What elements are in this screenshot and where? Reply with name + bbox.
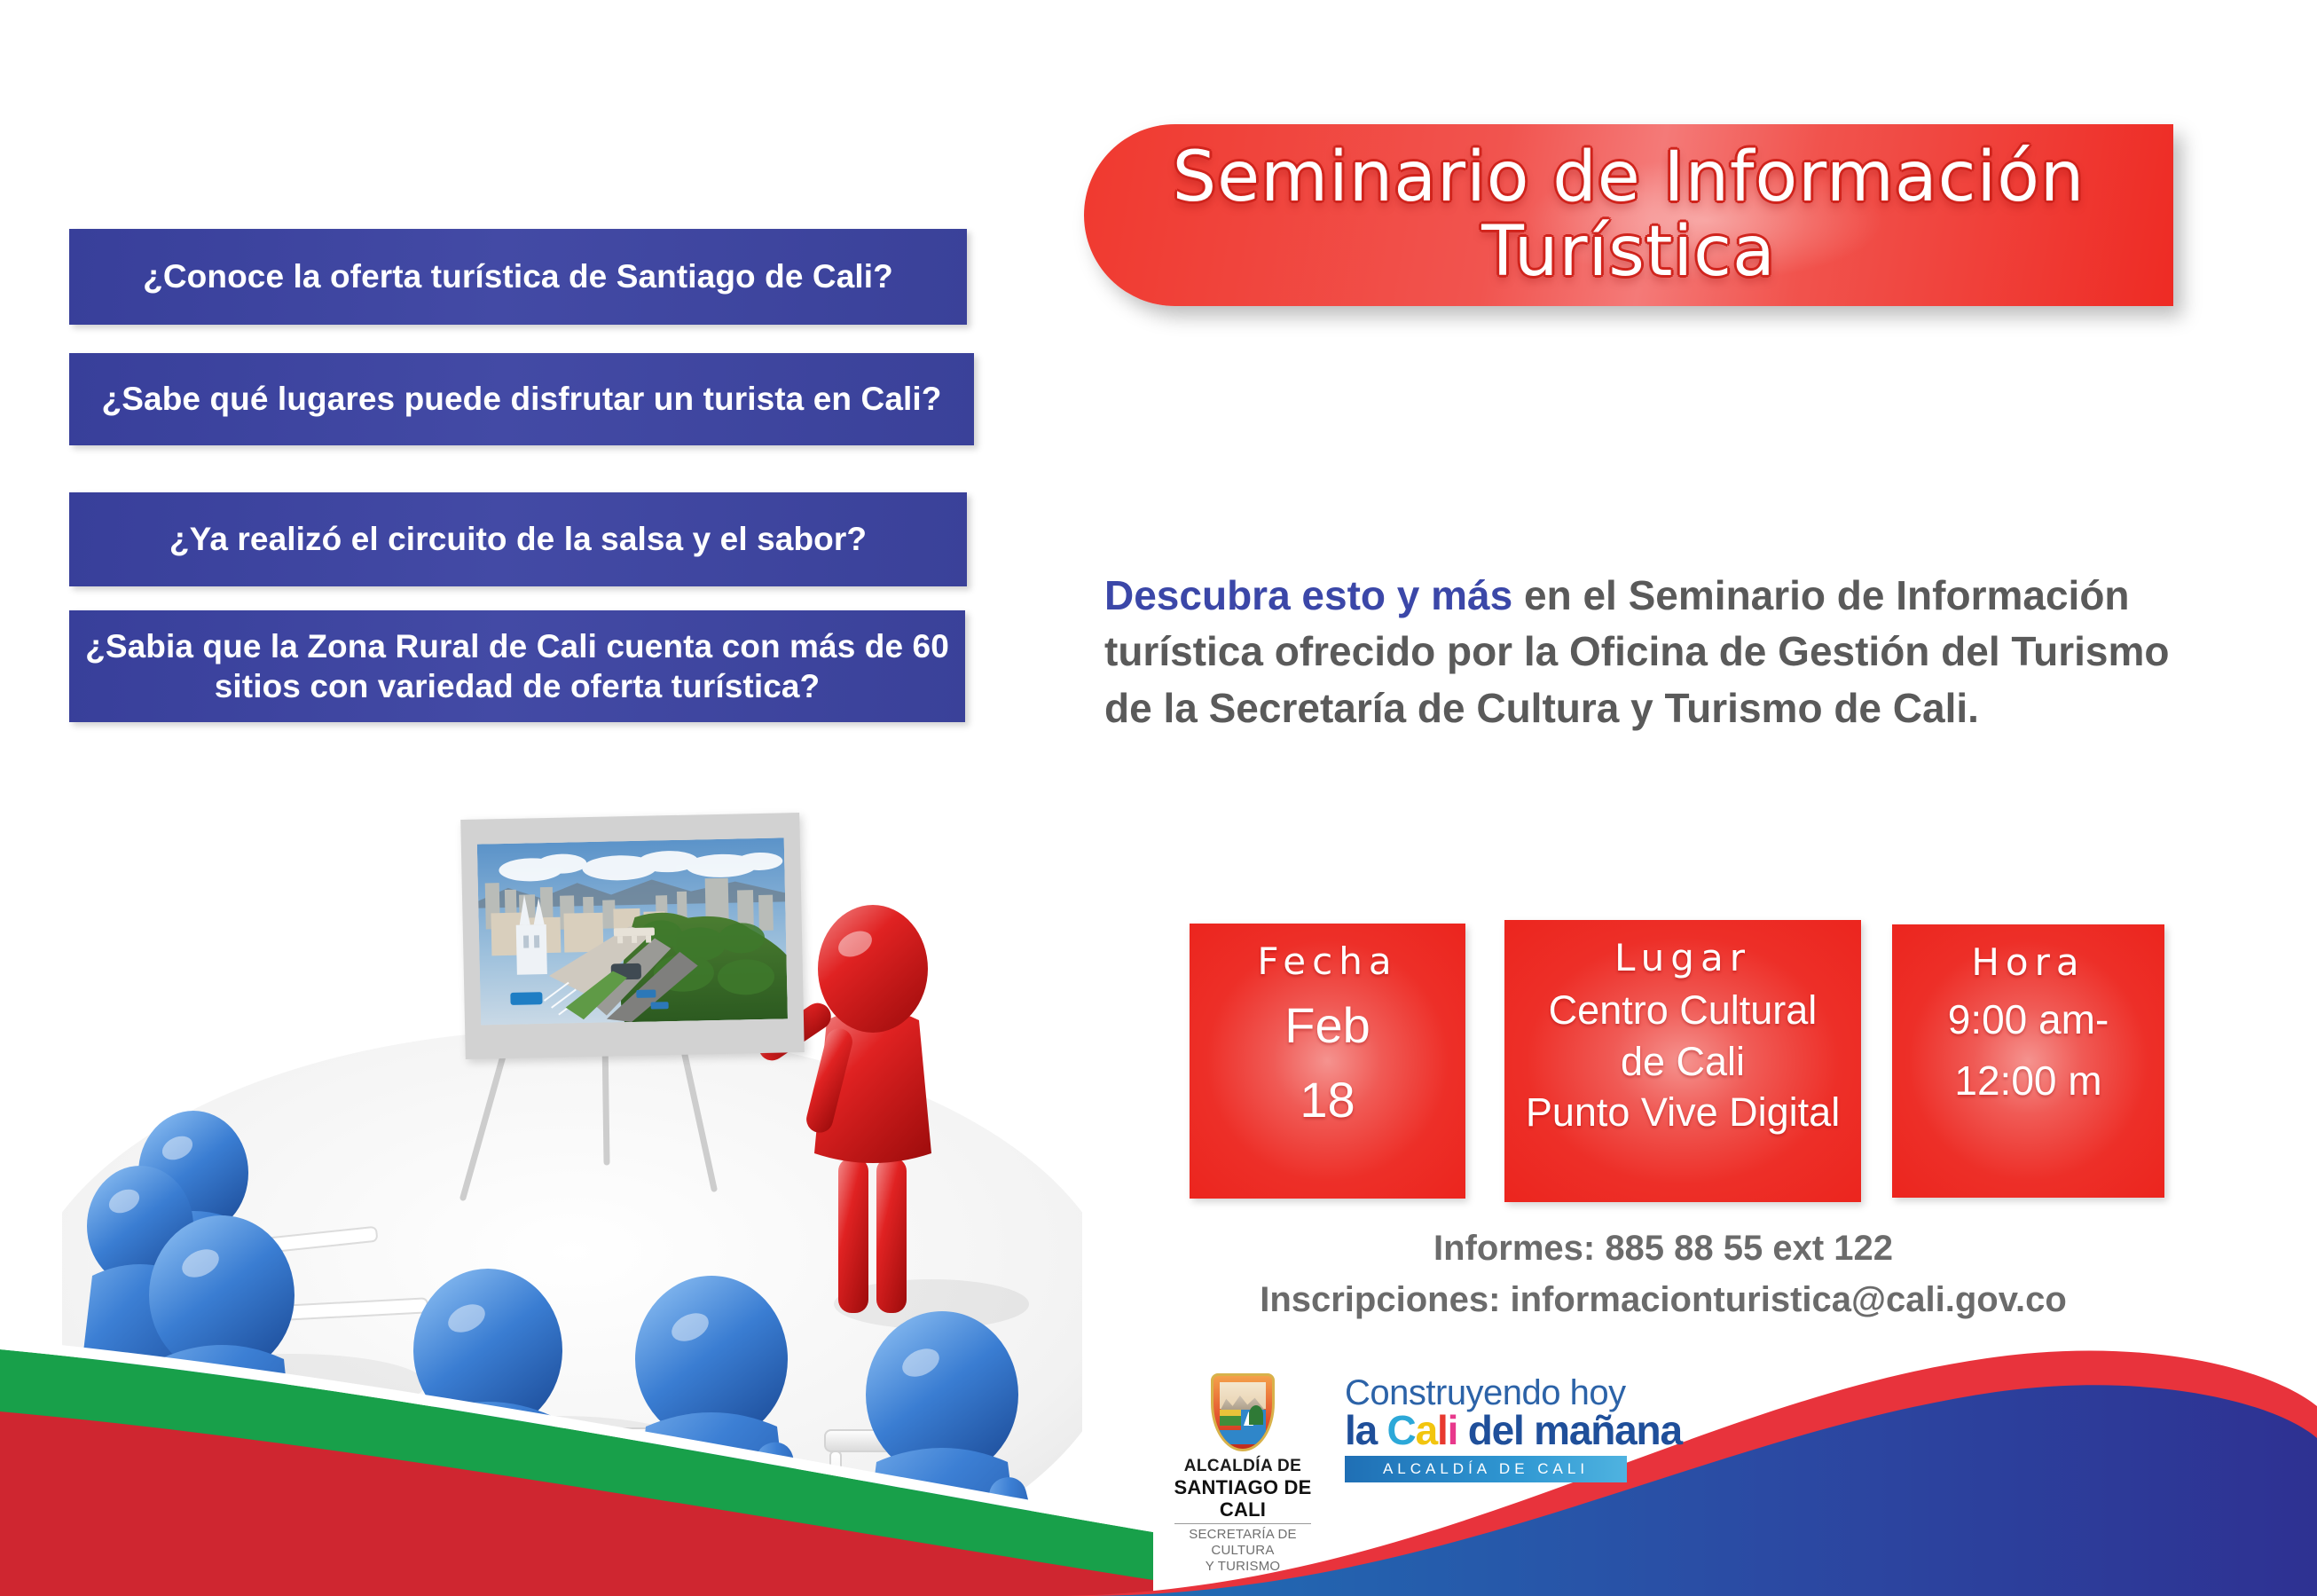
poster-root: Seminario de Información Turística ¿Cono… xyxy=(0,0,2317,1596)
seminar-illustration xyxy=(62,772,1082,1570)
lead-paragraph: Descubra esto y más en el Seminario de I… xyxy=(1104,568,2222,736)
contact-email-line: Inscripciones: informacionturistica@cali… xyxy=(1104,1280,2222,1320)
cali-brand-la: la xyxy=(1345,1407,1387,1453)
cali-brand-bar-text: ALCALDÍA DE CALI xyxy=(1383,1460,1589,1478)
info-box-fecha-heading: Fecha xyxy=(1257,940,1397,983)
coat-of-arms-icon xyxy=(1211,1373,1275,1451)
info-box-lugar-line-2: de Cali xyxy=(1621,1036,1745,1088)
question-banner-1: ¿Conoce la oferta turística de Santiago … xyxy=(69,229,967,325)
alcaldia-line-1: ALCALDÍA DE xyxy=(1167,1457,1318,1476)
info-box-hora-heading: Hora xyxy=(1971,940,2085,984)
cali-brand-line-1: Construyendo hoy xyxy=(1345,1376,1627,1410)
seminar-title-line-1: Seminario de Información xyxy=(1173,143,2085,214)
cali-brand-rest: del mañana xyxy=(1457,1407,1682,1453)
cali-city-photo xyxy=(477,837,788,1025)
cali-brand-logo: Construyendo hoy la Cali del mañana ALCA… xyxy=(1345,1376,1627,1482)
lead-highlight: Descubra esto y más xyxy=(1104,572,1512,618)
easel-board xyxy=(460,813,805,1059)
cali-letter-l: l xyxy=(1437,1407,1448,1453)
logo-divider xyxy=(1174,1523,1311,1524)
question-banner-3: ¿Ya realizó el circuito de la salsa y el… xyxy=(69,492,967,586)
cali-brand-bar: ALCALDÍA DE CALI xyxy=(1345,1456,1627,1482)
cali-letter-a: a xyxy=(1416,1407,1437,1453)
info-box-fecha: Fecha Feb 18 xyxy=(1190,924,1465,1199)
cali-letter-c: C xyxy=(1387,1407,1416,1453)
info-box-hora-line-2: 12:00 m xyxy=(1954,1050,2101,1112)
info-box-hora: Hora 9:00 am- 12:00 m xyxy=(1892,924,2164,1198)
question-banner-2: ¿Sabe qué lugares puede disfrutar un tur… xyxy=(69,353,974,445)
info-box-fecha-line-2: 18 xyxy=(1300,1063,1355,1137)
seminar-title-line-2: Turística xyxy=(1481,217,1776,288)
cali-letter-i: i xyxy=(1448,1407,1458,1453)
info-box-fecha-line-1: Feb xyxy=(1284,988,1371,1063)
cali-brand-line-2: la Cali del mañana xyxy=(1345,1410,1627,1451)
alcaldia-line-3: SECRETARÍA DE CULTURA xyxy=(1167,1527,1318,1559)
info-box-lugar-line-3: Punto Vive Digital xyxy=(1526,1087,1840,1138)
info-box-hora-line-1: 9:00 am- xyxy=(1948,989,2109,1050)
info-box-lugar: Lugar Centro Cultural de Cali Punto Vive… xyxy=(1504,920,1861,1202)
contact-phone-line: Informes: 885 88 55 ext 122 xyxy=(1104,1229,2222,1269)
title-text-group: Seminario de Información Turística xyxy=(1084,131,2173,300)
info-box-lugar-heading: Lugar xyxy=(1614,936,1751,979)
alcaldia-line-2: SANTIAGO DE CALI xyxy=(1167,1476,1318,1521)
alcaldia-line-4: Y TURISMO xyxy=(1167,1559,1318,1575)
question-banner-4: ¿Sabia que la Zona Rural de Cali cuenta … xyxy=(69,610,965,722)
alcaldia-logo: ALCALDÍA DE SANTIAGO DE CALI SECRETARÍA … xyxy=(1167,1373,1318,1575)
info-box-lugar-line-1: Centro Cultural xyxy=(1549,985,1818,1036)
